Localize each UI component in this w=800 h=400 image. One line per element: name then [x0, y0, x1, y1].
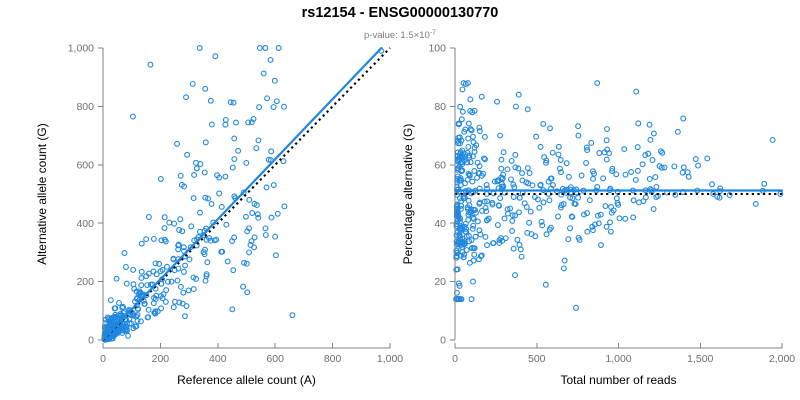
y-tick-label: 800 — [76, 101, 94, 113]
y-tick-label: 20 — [434, 276, 446, 288]
y-axis-title-left: Alternative allele count (G) — [35, 123, 49, 264]
figure-background — [0, 0, 800, 400]
y-tick-label: 0 — [440, 335, 446, 347]
y-tick-label: 200 — [76, 276, 94, 288]
x-tick-label: 1,000 — [377, 353, 403, 365]
x-tick-label: 1,000 — [605, 353, 631, 365]
y-tick-label: 1,000 — [68, 43, 94, 55]
x-tick-label: 500 — [528, 353, 546, 365]
allelic-imbalance-figure: rs12154 - ENSG00000130770 p-value: 1.5×1… — [0, 0, 800, 400]
p-value-text: p-value: 1.5×10 — [364, 30, 430, 41]
y-tick-label: 600 — [76, 159, 94, 171]
x-tick-label: 1,500 — [687, 353, 713, 365]
x-axis-title-left: Reference allele count (A) — [177, 373, 316, 387]
y-tick-label: 0 — [88, 335, 94, 347]
y-axis-title-right: Percentage alternative (G) — [401, 124, 415, 265]
y-tick-label: 80 — [434, 101, 446, 113]
x-axis-title-right: Total number of reads — [560, 373, 676, 387]
page-title: rs12154 - ENSG00000130770 — [302, 5, 499, 21]
x-tick-label: 200 — [152, 353, 170, 365]
y-tick-label: 60 — [434, 159, 446, 171]
subtitle-group: p-value: 1.5×10-7 — [364, 30, 436, 42]
p-value-exponent: -7 — [430, 30, 436, 37]
x-tick-label: 0 — [452, 353, 458, 365]
p-value-subtitle: p-value: 1.5×10-7 — [364, 30, 436, 42]
x-tick-label: 600 — [266, 353, 284, 365]
x-tick-label: 0 — [100, 353, 106, 365]
y-tick-label: 400 — [76, 218, 94, 230]
y-tick-label: 100 — [428, 43, 446, 55]
y-tick-label: 40 — [434, 218, 446, 230]
x-tick-label: 400 — [209, 353, 227, 365]
x-tick-label: 800 — [324, 353, 342, 365]
x-tick-label: 2,000 — [769, 353, 795, 365]
